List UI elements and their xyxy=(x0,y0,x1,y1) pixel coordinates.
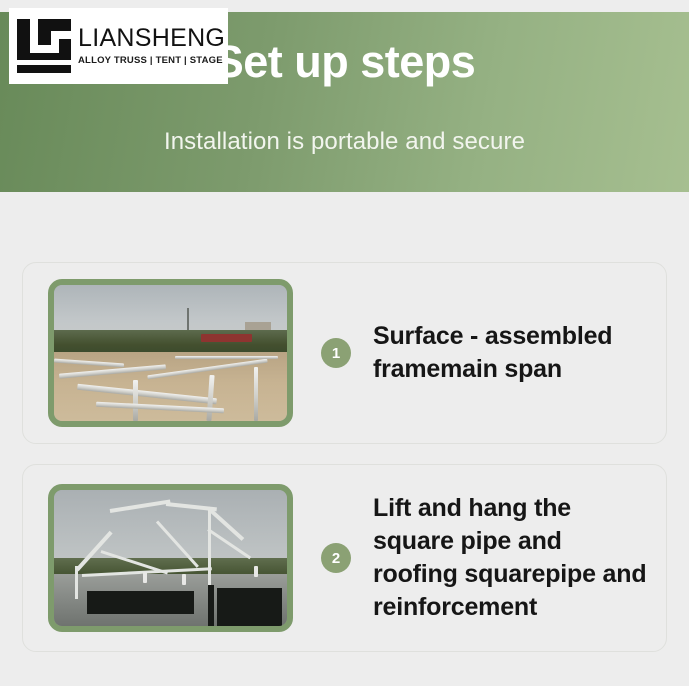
step-card: 2 Lift and hang the square pipe and roof… xyxy=(22,464,667,652)
brand-tagline: ALLOY TRUSS | TENT | STAGE xyxy=(78,56,228,66)
steps-list: 1 Surface - assembled framemain span xyxy=(0,262,689,672)
step-description: Lift and hang the square pipe and roofin… xyxy=(373,492,648,624)
page-subtitle: Installation is portable and secure xyxy=(0,128,689,156)
brand-logo-text: LIANSHENG ALLOY TRUSS | TENT | STAGE xyxy=(78,26,228,66)
step-photo xyxy=(48,484,293,632)
brand-name: LIANSHENG xyxy=(78,26,228,51)
step-photo xyxy=(48,279,293,427)
brand-logo: LIANSHENG ALLOY TRUSS | TENT | STAGE xyxy=(9,8,228,84)
ls-monogram-icon xyxy=(17,19,71,73)
step-number-badge: 2 xyxy=(321,543,351,573)
step-card: 1 Surface - assembled framemain span xyxy=(22,262,667,444)
page-root: Set up steps Installation is portable an… xyxy=(0,0,689,686)
step-number-badge: 1 xyxy=(321,338,351,368)
step-description: Surface - assembled framemain span xyxy=(373,320,648,386)
step-content: 1 Surface - assembled framemain span xyxy=(293,320,666,386)
step-content: 2 Lift and hang the square pipe and roof… xyxy=(293,492,666,624)
